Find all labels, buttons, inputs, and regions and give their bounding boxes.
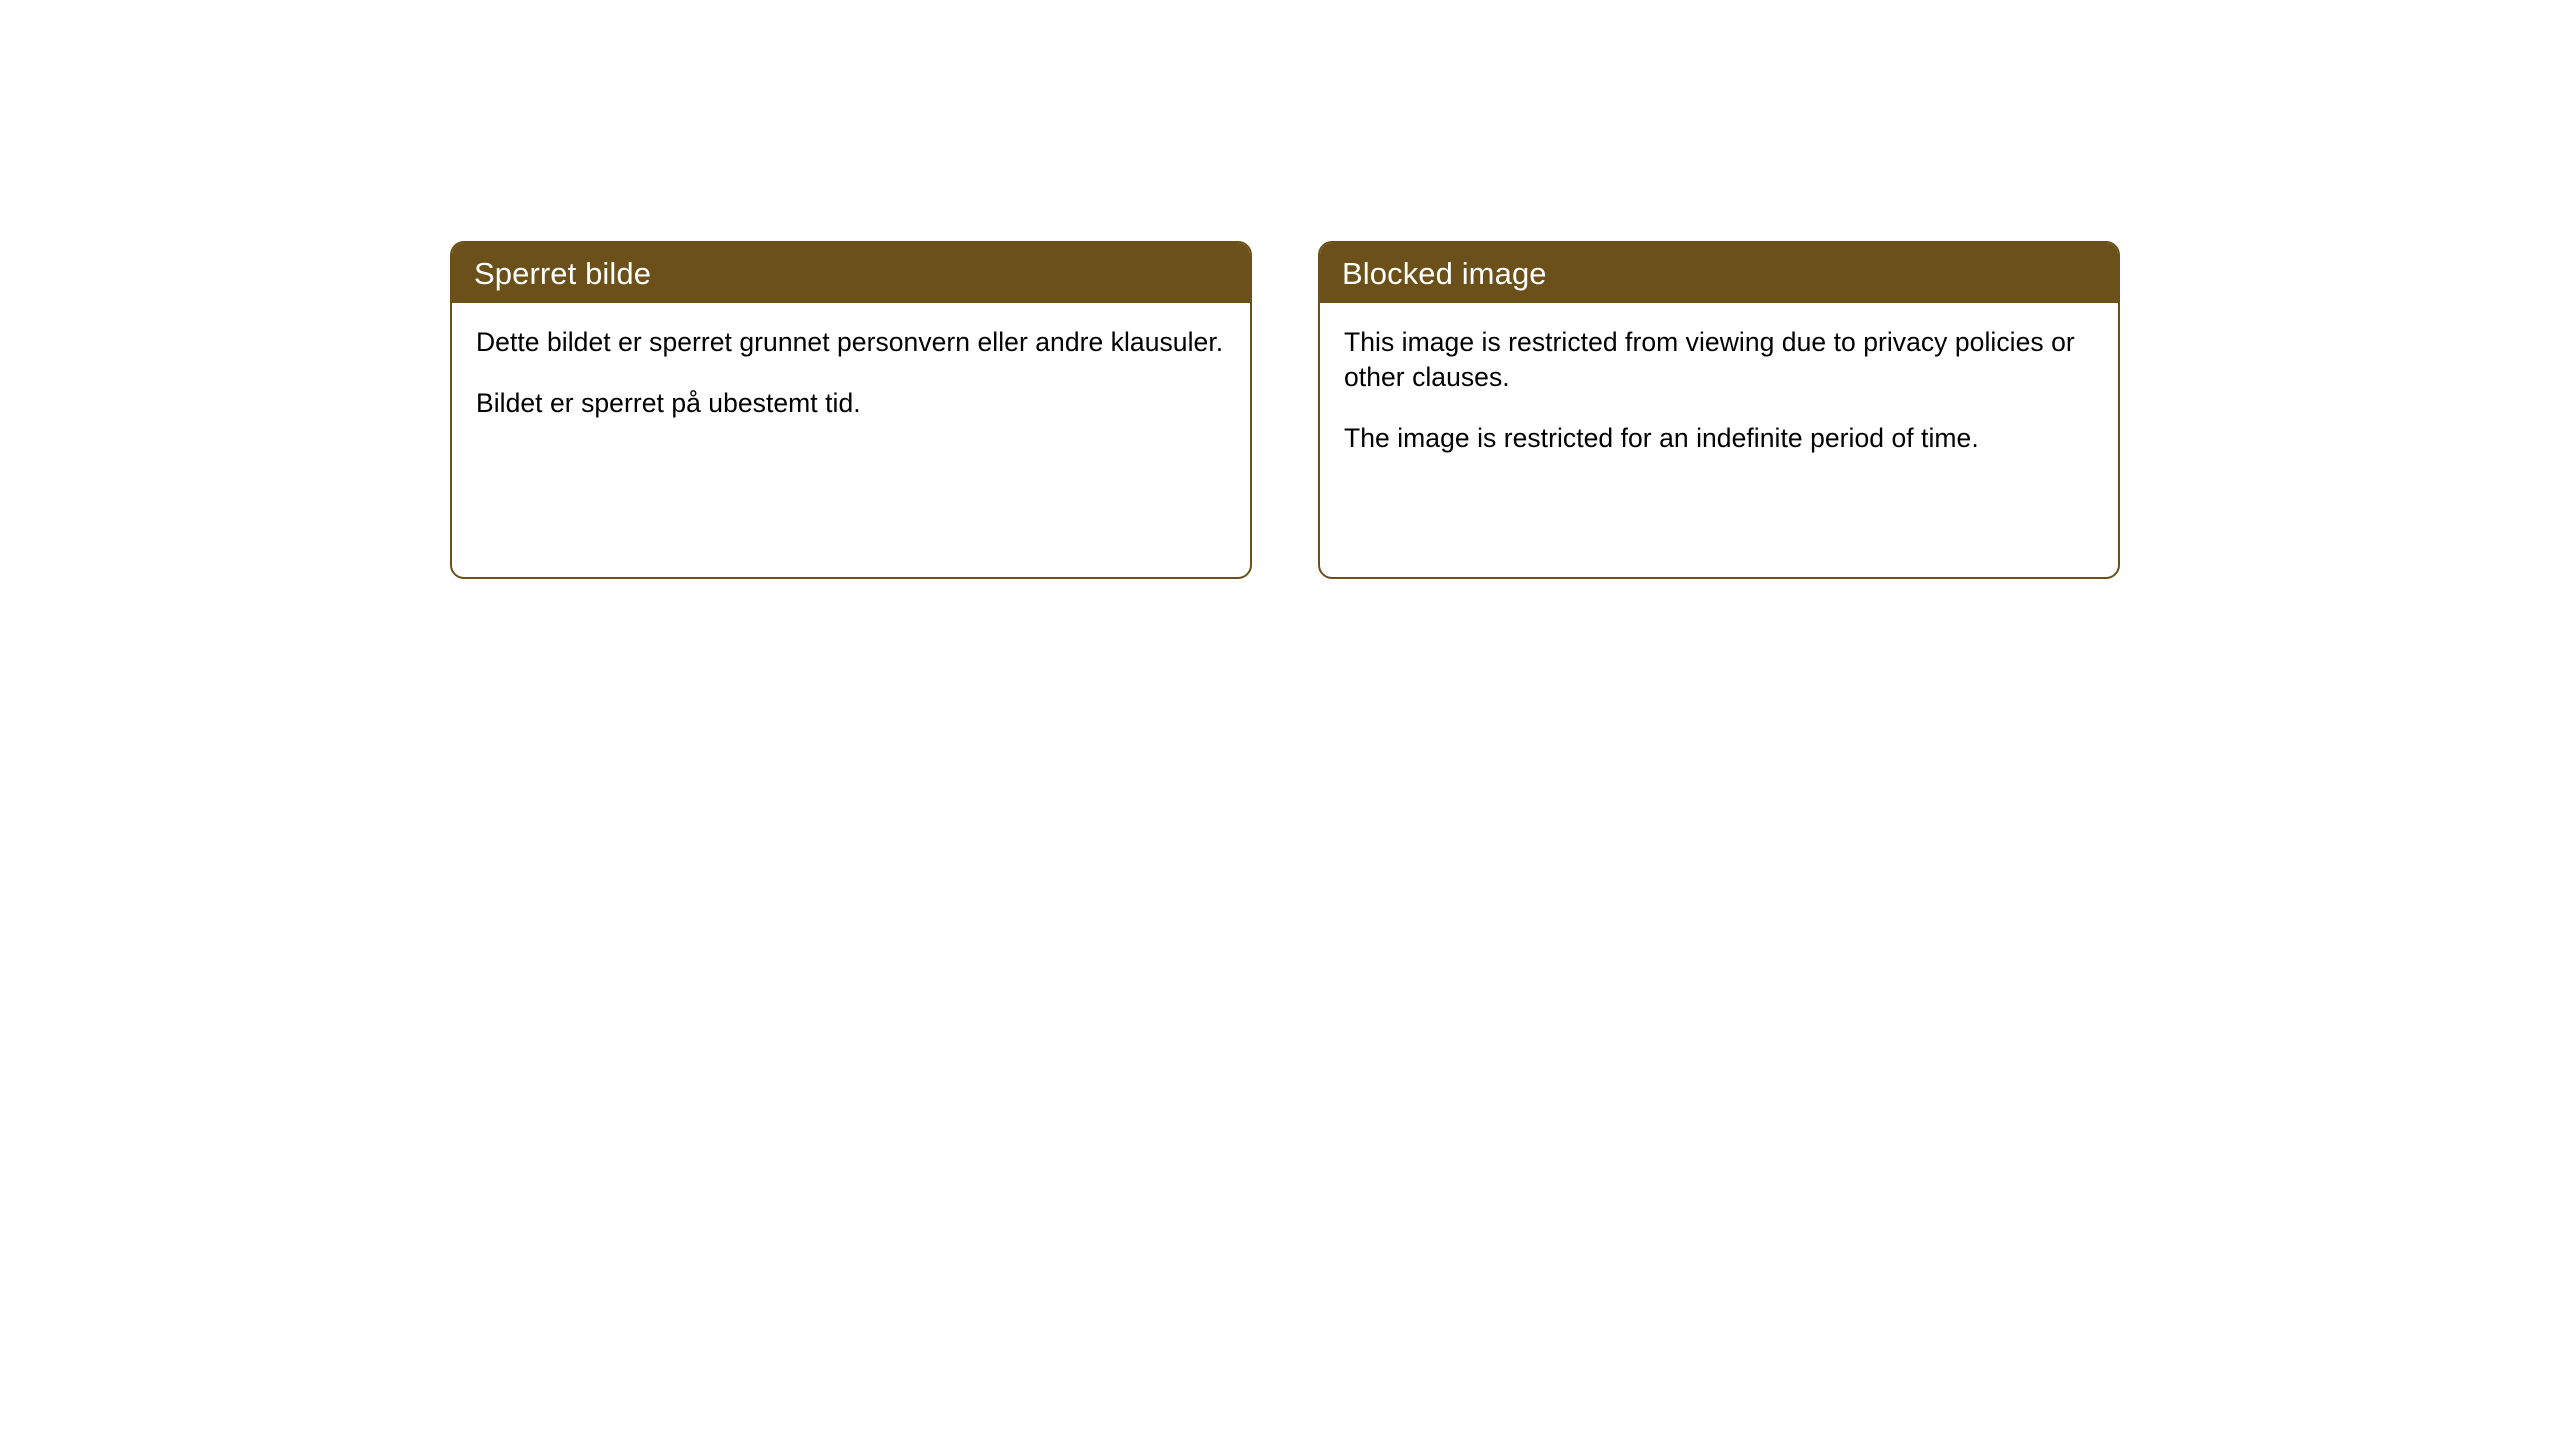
panel-title: Sperret bilde bbox=[474, 258, 651, 289]
panel-body: Dette bildet er sperret grunnet personve… bbox=[452, 303, 1250, 421]
restriction-reason-text: This image is restricted from viewing du… bbox=[1344, 325, 2092, 395]
panel-header: Sperret bilde bbox=[452, 243, 1250, 303]
restriction-reason-text: Dette bildet er sperret grunnet personve… bbox=[476, 325, 1224, 360]
panel-header: Blocked image bbox=[1320, 243, 2118, 303]
blocked-image-panel-english: Blocked image This image is restricted f… bbox=[1318, 241, 2120, 579]
page-canvas: Sperret bilde Dette bildet er sperret gr… bbox=[0, 0, 2560, 1440]
restriction-duration-text: The image is restricted for an indefinit… bbox=[1344, 421, 2092, 456]
restriction-duration-text: Bildet er sperret på ubestemt tid. bbox=[476, 386, 1224, 421]
blocked-image-panel-norwegian: Sperret bilde Dette bildet er sperret gr… bbox=[450, 241, 1252, 579]
panel-title: Blocked image bbox=[1342, 258, 1547, 289]
panel-body: This image is restricted from viewing du… bbox=[1320, 303, 2118, 457]
